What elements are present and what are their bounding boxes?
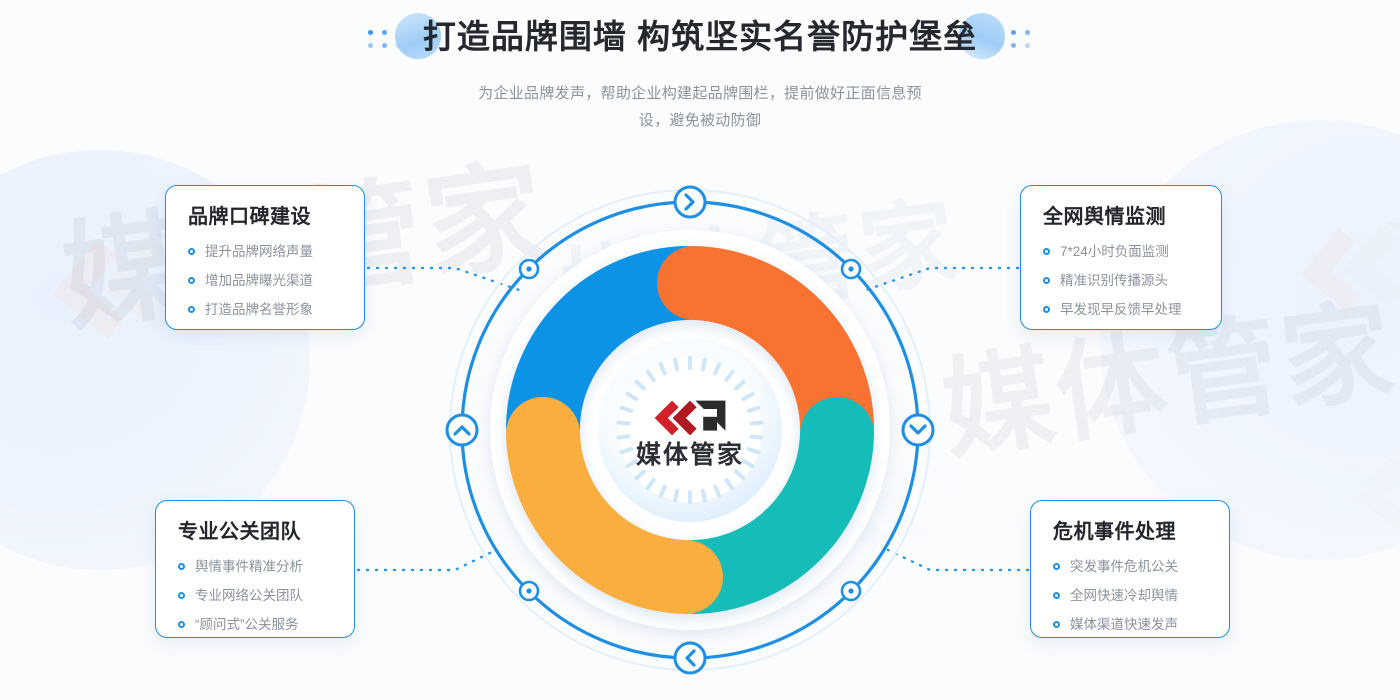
badge-right[interactable] (903, 415, 933, 445)
watermark-logo-right (1290, 180, 1400, 320)
card-crisis-handling[interactable]: 危机事件处理 突发事件危机公关 全网快速冷却舆情 媒体渠道快速发声 (1030, 500, 1230, 638)
card-public-opinion[interactable]: 全网舆情监测 7*24小时负面监测 精准识别传播源头 早发现早反馈早处理 (1020, 185, 1222, 330)
card-title: 危机事件处理 (1053, 515, 1209, 544)
central-wheel: 媒体管家 (440, 180, 940, 680)
list-item: 精准识别传播源头 (1043, 266, 1201, 295)
list-item: 增加品牌曝光渠道 (188, 266, 344, 295)
card-title: 品牌口碑建设 (188, 200, 344, 229)
list-item: 舆情事件精准分析 (178, 552, 334, 581)
wheel-node-bottom-left[interactable] (520, 582, 538, 600)
title-wrap: 打造品牌围墙 构筑坚实名誉防护堡垒 (417, 0, 983, 96)
list-item: 突发事件危机公关 (1053, 552, 1209, 581)
card-title: 专业公关团队 (178, 515, 334, 544)
card-item-list: 提升品牌网络声量 增加品牌曝光渠道 打造品牌名誉形象 (188, 237, 344, 324)
card-brand-reputation[interactable]: 品牌口碑建设 提升品牌网络声量 增加品牌曝光渠道 打造品牌名誉形象 (165, 185, 365, 330)
watermark-logo-center (1310, 420, 1400, 540)
badge-left[interactable] (447, 415, 477, 445)
list-item: 全网快速冷却舆情 (1053, 581, 1209, 610)
list-item: 媒体渠道快速发声 (1053, 610, 1209, 639)
list-item: 专业网络公关团队 (178, 581, 334, 610)
wheel-node-top-right[interactable] (842, 260, 860, 278)
list-item: 早发现早反馈早处理 (1043, 295, 1201, 324)
wheel-node-bottom-right[interactable] (842, 582, 860, 600)
header: 打造品牌围墙 构筑坚实名誉防护堡垒 为企业品牌发声，帮助企业构建起品牌围栏，提前… (0, 0, 1400, 134)
card-item-list: 舆情事件精准分析 专业网络公关团队 “顾问式”公关服务 (178, 552, 334, 639)
badge-bottom[interactable] (675, 643, 705, 673)
title-row: 打造品牌围墙 构筑坚实名誉防护堡垒 (0, 0, 1400, 74)
card-title: 全网舆情监测 (1043, 200, 1201, 229)
badge-top[interactable] (675, 187, 705, 217)
subtitle-line-2: 设，避免被动防御 (420, 107, 980, 134)
center-logo-text: 媒体管家 (636, 440, 744, 469)
list-item: 7*24小时负面监测 (1043, 237, 1201, 266)
card-pr-team[interactable]: 专业公关团队 舆情事件精准分析 专业网络公关团队 “顾问式”公关服务 (155, 500, 355, 638)
card-item-list: 突发事件危机公关 全网快速冷却舆情 媒体渠道快速发声 (1053, 552, 1209, 639)
card-item-list: 7*24小时负面监测 精准识别传播源头 早发现早反馈早处理 (1043, 237, 1201, 324)
page-title: 打造品牌围墙 构筑坚实名誉防护堡垒 (423, 0, 977, 74)
list-item: 提升品牌网络声量 (188, 237, 344, 266)
wheel-node-top-left[interactable] (520, 260, 538, 278)
list-item: “顾问式”公关服务 (178, 610, 334, 639)
list-item: 打造品牌名誉形象 (188, 295, 344, 324)
